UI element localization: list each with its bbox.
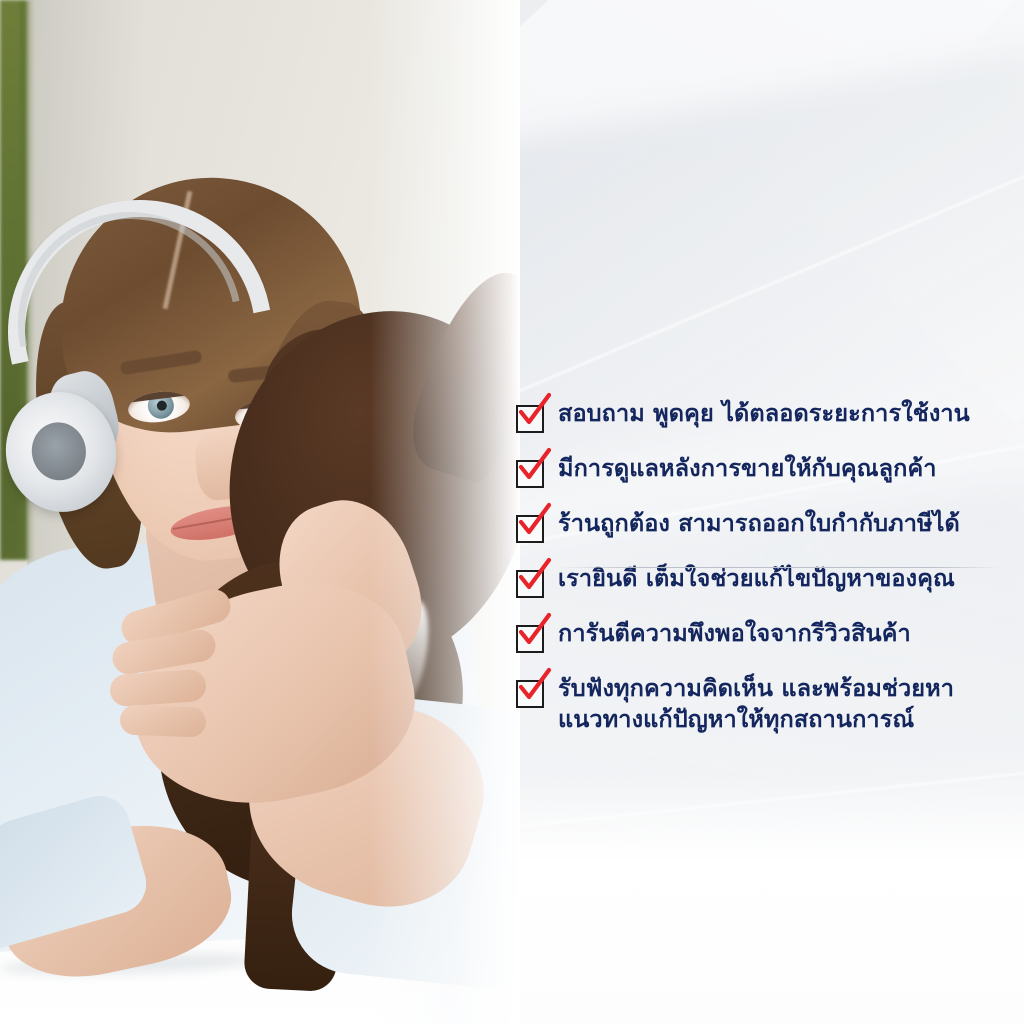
photo-edge-fade [370,0,520,1024]
checklist-item-label: ร้านถูกต้อง สามารถออกใบกำกับภาษีได้ [558,508,960,539]
photo-finger [120,705,207,738]
checked-checkbox-icon[interactable] [516,570,544,598]
checked-checkbox-icon[interactable] [516,405,544,433]
checklist-underline [560,567,1000,568]
checklist-item[interactable]: รับฟังทุกความคิดเห็น และพร้อมช่วยหา แนวท… [516,673,1016,735]
checklist-item[interactable]: ร้านถูกต้อง สามารถออกใบกำกับภาษีได้ [516,508,1016,543]
hero-photo [0,0,520,1024]
checklist-item-label: สอบถาม พูดคุย ได้ตลอดระยะการใช้งาน [558,398,970,429]
checklist-item[interactable]: สอบถาม พูดคุย ได้ตลอดระยะการใช้งาน [516,398,1016,433]
checked-checkbox-icon[interactable] [516,515,544,543]
checked-checkbox-icon[interactable] [516,680,544,708]
checklist-item[interactable]: มีการดูแลหลังการขายให้กับคุณลูกค้า [516,453,1016,488]
promo-banner: สอบถาม พูดคุย ได้ตลอดระยะการใช้งาน มีการ… [0,0,1024,1024]
checklist-item-label: รับฟังทุกความคิดเห็น และพร้อมช่วยหา แนวท… [558,673,954,735]
photo-finger [109,669,207,708]
checked-checkbox-icon[interactable] [516,625,544,653]
checklist-item[interactable]: การันตีความพึงพอใจจากรีวิวสินค้า [516,618,1016,653]
checklist-item-label: มีการดูแลหลังการขายให้กับคุณลูกค้า [558,453,937,484]
photo-pupil [156,400,167,411]
checklist-item[interactable]: เรายินดี เต็มใจช่วยแก้ไขปัญหาของคุณ [516,563,1016,598]
checklist-item-label: การันตีความพึงพอใจจากรีวิวสินค้า [558,618,911,649]
checked-checkbox-icon[interactable] [516,460,544,488]
